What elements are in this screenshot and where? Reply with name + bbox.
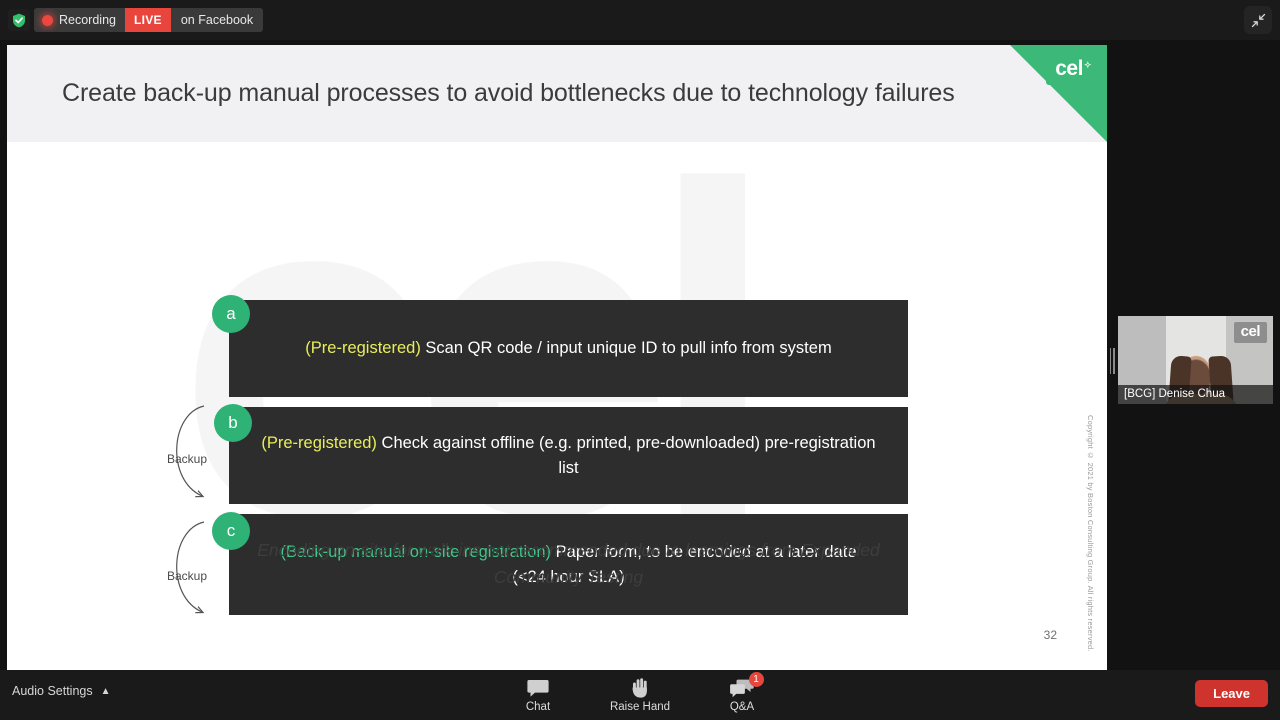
step-badge-c: c [212,512,250,550]
slide-body: cel Backup Backup (Pr [7,142,1107,670]
backup-label-2: Backup [167,569,207,583]
shared-slide: Create back-up manual processes to avoid… [7,45,1107,670]
backup-arrows [152,392,222,642]
cel-watermark: cel [1234,322,1267,343]
qa-bubbles-icon: 1 [730,678,755,698]
zoom-meeting-window: Recording LIVE on Facebook Create back-u… [0,0,1280,720]
process-box-a-highlight: (Pre-registered) [305,339,421,357]
bottom-toolbar: Audio Settings ▲ Chat [0,670,1280,720]
toolbar-buttons: Chat Raise Hand [0,670,1280,720]
streaming-platform-label: on Facebook [171,13,263,27]
qa-label: Q&A [730,701,754,713]
recording-label: Recording [59,13,125,27]
process-box-a-text: (Pre-registered) Scan QR code / input un… [305,336,831,361]
panel-resize-handle[interactable] [1108,345,1116,377]
slide-header: Create back-up manual processes to avoid… [7,45,1107,142]
step-badge-b: b [214,404,252,442]
raise-hand-button[interactable]: Raise Hand [608,678,672,713]
process-box-b-body: Check against offline (e.g. printed, pre… [377,434,876,477]
recording-status-group: Recording LIVE on Facebook [34,8,263,32]
participant-name-label: [BCG] Denise Chua [1118,385,1273,404]
shield-check-icon [8,9,30,31]
participant-video-tile[interactable]: cel [BCG] Denise Chua [1118,316,1273,404]
raise-hand-label: Raise Hand [610,701,670,713]
chat-button[interactable]: Chat [506,678,570,713]
process-box-b-text: (Pre-registered) Check against offline (… [251,431,886,481]
top-status-bar: Recording LIVE on Facebook [0,0,1280,40]
process-box-a: (Pre-registered) Scan QR code / input un… [229,300,908,397]
chat-label: Chat [526,701,550,713]
qa-badge-count: 1 [749,672,764,687]
page-title: Create back-up manual processes to avoid… [7,79,955,108]
exit-fullscreen-icon[interactable] [1244,6,1272,34]
raise-hand-icon [631,678,650,698]
cel-logo-text: cel [1055,57,1083,80]
chat-bubble-icon [527,678,549,698]
process-box-a-body: Scan QR code / input unique ID to pull i… [421,339,832,357]
copyright-text: Copyright © 2021 by Boston Consulting Gr… [1086,415,1095,652]
step-badge-a: a [212,295,250,333]
slide-page-number: 32 [1044,628,1057,642]
sparkle-icon: ✧ [1084,60,1091,70]
process-box-b-highlight: (Pre-registered) [261,434,377,452]
leave-button[interactable]: Leave [1195,680,1268,707]
process-flow: Backup Backup (Pre-registered) Scan QR c… [7,142,1107,670]
process-box-b: (Pre-registered) Check against offline (… [229,407,908,504]
backup-label-1: Backup [167,452,207,466]
qa-button[interactable]: 1 Q&A [710,678,774,713]
cel-logo: cel✧ [1046,55,1099,85]
live-badge: LIVE [125,8,171,32]
slide-note: Encoding on-site for walk-ins not recomm… [229,537,908,591]
recording-dot-icon [34,15,59,26]
